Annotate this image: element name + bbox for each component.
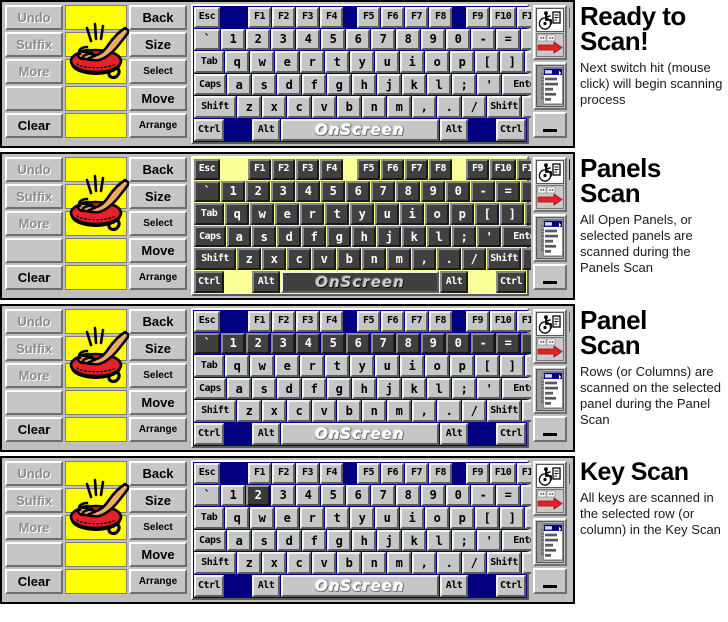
key-[interactable]: , (412, 400, 436, 422)
key-l[interactable]: l (427, 74, 451, 96)
key-x[interactable]: x (262, 400, 286, 422)
key-e[interactable]: e (275, 355, 299, 377)
key-0[interactable]: 0 (446, 29, 470, 51)
button-select[interactable]: Select (129, 363, 187, 388)
key-v[interactable]: v (312, 400, 336, 422)
key-6[interactable]: 6 (346, 485, 370, 507)
key-9[interactable]: 9 (421, 29, 445, 51)
key-Alt[interactable]: Alt (252, 575, 280, 597)
key-1[interactable]: 1 (221, 29, 245, 51)
key-c[interactable]: c (287, 248, 311, 270)
key-s[interactable]: s (252, 378, 276, 400)
key-k[interactable]: k (402, 226, 426, 248)
button-move[interactable]: Move (129, 238, 187, 263)
button-more[interactable]: More (5, 211, 63, 236)
key-Alt[interactable]: Alt (440, 119, 468, 141)
key-Caps[interactable]: Caps (194, 226, 226, 248)
key-o[interactable]: o (425, 51, 449, 73)
button-size[interactable]: Size (129, 336, 187, 361)
key-j[interactable]: j (377, 530, 401, 552)
key-[interactable]: - (471, 29, 495, 51)
key-z[interactable]: z (237, 96, 261, 118)
key-F2[interactable]: F2 (272, 311, 295, 332)
key-4[interactable]: 4 (296, 333, 320, 355)
key-2[interactable]: 2 (246, 485, 270, 507)
key-F4[interactable]: F4 (320, 7, 343, 28)
key-F1[interactable]: F1 (248, 159, 271, 180)
key-r[interactable]: r (300, 507, 324, 529)
key-Shift[interactable]: Shift (194, 552, 236, 574)
key-i[interactable]: i (400, 51, 424, 73)
button-undo[interactable]: Undo (5, 5, 63, 30)
button-undo[interactable]: Undo (5, 157, 63, 182)
key-l[interactable]: l (427, 530, 451, 552)
key-F5[interactable]: F5 (357, 7, 380, 28)
key-t[interactable]: t (325, 355, 349, 377)
red-arrow-icon[interactable] (536, 337, 564, 361)
key-[interactable]: = (496, 181, 520, 203)
key-2[interactable]: 2 (246, 29, 270, 51)
key-[interactable]: . (437, 400, 461, 422)
key-5[interactable]: 5 (321, 181, 345, 203)
red-arrow-icon[interactable] (536, 185, 564, 209)
key-[interactable]: - (471, 333, 495, 355)
button-undo[interactable]: Undo (5, 461, 63, 486)
key-Tab[interactable]: Tab (194, 507, 224, 529)
key-k[interactable]: k (402, 378, 426, 400)
key-8[interactable]: 8 (396, 485, 420, 507)
key-1[interactable]: 1 (221, 485, 245, 507)
onscreen-keyboard[interactable]: EscF1F2F3F4F5F6F7F8F9F10F11F12`123456789… (191, 156, 529, 296)
key-Ctrl[interactable]: Ctrl (194, 119, 224, 141)
key-a[interactable]: a (227, 226, 251, 248)
key-F2[interactable]: F2 (272, 159, 295, 180)
key-y[interactable]: y (350, 203, 374, 225)
key-Ctrl[interactable]: Ctrl (496, 575, 526, 597)
key-h[interactable]: h (352, 378, 376, 400)
button-suffix[interactable]: Suffix (5, 184, 63, 209)
key-[interactable]: ; (452, 530, 476, 552)
key-y[interactable]: y (350, 355, 374, 377)
key-d[interactable]: d (277, 378, 301, 400)
key-x[interactable]: x (262, 96, 286, 118)
key-F3[interactable]: F3 (296, 159, 319, 180)
key-7[interactable]: 7 (371, 333, 395, 355)
menu-list-icon[interactable]: MENU (536, 521, 564, 563)
key-s[interactable]: s (252, 226, 276, 248)
key-Alt[interactable]: Alt (252, 119, 280, 141)
key-[interactable]: / (462, 248, 486, 270)
key-x[interactable]: x (262, 248, 286, 270)
key-Tab[interactable]: Tab (194, 51, 224, 73)
key-[interactable]: ] (500, 203, 524, 225)
onscreen-keyboard[interactable]: EscF1F2F3F4F5F6F7F8F9F10F11F12`123456789… (191, 4, 529, 144)
button-move[interactable]: Move (129, 390, 187, 415)
key-p[interactable]: p (450, 51, 474, 73)
button-back[interactable]: Back (129, 157, 187, 182)
key-[interactable]: ; (452, 378, 476, 400)
key-F7[interactable]: F7 (405, 311, 428, 332)
key-w[interactable]: w (250, 203, 274, 225)
key-o[interactable]: o (425, 203, 449, 225)
key-[interactable]: ] (500, 51, 524, 73)
key-F8[interactable]: F8 (429, 159, 452, 180)
key-b[interactable]: b (337, 552, 361, 574)
key-y[interactable]: y (350, 51, 374, 73)
key-5[interactable]: 5 (321, 333, 345, 355)
red-arrow-icon[interactable] (536, 489, 564, 513)
button-suffix[interactable]: Suffix (5, 488, 63, 513)
key-g[interactable]: g (327, 378, 351, 400)
key-[interactable]: ; (452, 74, 476, 96)
key-d[interactable]: d (277, 530, 301, 552)
key-a[interactable]: a (227, 530, 251, 552)
key-p[interactable]: p (450, 355, 474, 377)
key-m[interactable]: m (387, 248, 411, 270)
key-Alt[interactable]: Alt (252, 271, 280, 293)
button-move[interactable]: Move (129, 86, 187, 111)
button-more[interactable]: More (5, 59, 63, 84)
key-[interactable]: / (462, 552, 486, 574)
key-F2[interactable]: F2 (272, 7, 295, 28)
key-n[interactable]: n (362, 96, 386, 118)
key-q[interactable]: q (225, 51, 249, 73)
key-Alt[interactable]: Alt (252, 423, 280, 445)
key-n[interactable]: n (362, 400, 386, 422)
key-Caps[interactable]: Caps (194, 378, 226, 400)
key-[interactable]: ` (194, 29, 220, 51)
button-arrange[interactable]: Arrange (129, 113, 187, 138)
key-f[interactable]: f (302, 74, 326, 96)
key-Ctrl[interactable]: Ctrl (194, 271, 224, 293)
key-v[interactable]: v (312, 552, 336, 574)
key-5[interactable]: 5 (321, 485, 345, 507)
key-F8[interactable]: F8 (429, 7, 452, 28)
key-space[interactable]: OnScreen (281, 119, 439, 141)
key-Shift[interactable]: Shift (487, 400, 521, 422)
button-select[interactable]: Select (129, 59, 187, 84)
key-Alt[interactable]: Alt (440, 423, 468, 445)
key-Caps[interactable]: Caps (194, 74, 226, 96)
button-move[interactable]: Move (129, 542, 187, 567)
key-F10[interactable]: F10 (490, 7, 516, 28)
red-arrow-icon[interactable] (536, 33, 564, 57)
key-g[interactable]: g (327, 74, 351, 96)
key-g[interactable]: g (327, 226, 351, 248)
onscreen-keyboard[interactable]: EscF1F2F3F4F5F6F7F8F9F10F11F12`123456789… (191, 308, 529, 448)
key-8[interactable]: 8 (396, 29, 420, 51)
key-Shift[interactable]: Shift (487, 552, 521, 574)
accessibility-wheelchair-icon[interactable] (536, 160, 564, 184)
key-[interactable]: = (496, 485, 520, 507)
key-Ctrl[interactable]: Ctrl (496, 271, 526, 293)
key-0[interactable]: 0 (446, 333, 470, 355)
key-c[interactable]: c (287, 96, 311, 118)
key-6[interactable]: 6 (346, 29, 370, 51)
key-[interactable]: ' (477, 378, 501, 400)
key-4[interactable]: 4 (296, 485, 320, 507)
key-F5[interactable]: F5 (357, 463, 380, 484)
key-Esc[interactable]: Esc (194, 463, 220, 484)
key-Shift[interactable]: Shift (194, 400, 236, 422)
key-[interactable]: , (412, 248, 436, 270)
key-[interactable]: - (471, 181, 495, 203)
button-select[interactable]: Select (129, 515, 187, 540)
key-b[interactable]: b (337, 248, 361, 270)
key-w[interactable]: w (250, 507, 274, 529)
key-space[interactable]: OnScreen (281, 271, 439, 293)
key-F7[interactable]: F7 (405, 159, 428, 180)
button-clear[interactable]: Clear (5, 113, 63, 138)
button-back[interactable]: Back (129, 5, 187, 30)
key-F2[interactable]: F2 (272, 463, 295, 484)
minimize-button[interactable] (533, 568, 567, 594)
key-[interactable]: [ (475, 51, 499, 73)
key-space[interactable]: OnScreen (281, 575, 439, 597)
key-8[interactable]: 8 (396, 333, 420, 355)
key-Esc[interactable]: Esc (194, 7, 220, 28)
key-e[interactable]: e (275, 203, 299, 225)
key-3[interactable]: 3 (271, 485, 295, 507)
key-8[interactable]: 8 (396, 181, 420, 203)
key-g[interactable]: g (327, 530, 351, 552)
key-d[interactable]: d (277, 226, 301, 248)
menu-list-icon[interactable]: MENU (536, 217, 564, 259)
key-[interactable]: ` (194, 181, 220, 203)
key-[interactable]: . (437, 96, 461, 118)
key-o[interactable]: o (425, 355, 449, 377)
key-p[interactable]: p (450, 203, 474, 225)
key-[interactable]: / (462, 400, 486, 422)
key-w[interactable]: w (250, 51, 274, 73)
key-F6[interactable]: F6 (381, 7, 404, 28)
key-[interactable]: ' (477, 530, 501, 552)
key-F8[interactable]: F8 (429, 463, 452, 484)
key-a[interactable]: a (227, 378, 251, 400)
accessibility-wheelchair-icon[interactable] (536, 8, 564, 32)
key-[interactable]: . (437, 248, 461, 270)
key-Alt[interactable]: Alt (440, 575, 468, 597)
key-q[interactable]: q (225, 203, 249, 225)
minimize-button[interactable] (533, 112, 567, 138)
key-7[interactable]: 7 (371, 485, 395, 507)
key-[interactable]: ] (500, 507, 524, 529)
key-e[interactable]: e (275, 507, 299, 529)
button-back[interactable]: Back (129, 461, 187, 486)
key-Alt[interactable]: Alt (440, 271, 468, 293)
key-j[interactable]: j (377, 378, 401, 400)
button-select[interactable]: Select (129, 211, 187, 236)
key-Caps[interactable]: Caps (194, 530, 226, 552)
key-0[interactable]: 0 (446, 181, 470, 203)
button-arrange[interactable]: Arrange (129, 569, 187, 594)
key-[interactable]: ' (477, 74, 501, 96)
button-arrange[interactable]: Arrange (129, 265, 187, 290)
key-F9[interactable]: F9 (466, 7, 489, 28)
key-m[interactable]: m (387, 552, 411, 574)
key-b[interactable]: b (337, 400, 361, 422)
key-F1[interactable]: F1 (248, 7, 271, 28)
key-F5[interactable]: F5 (357, 311, 380, 332)
key-Esc[interactable]: Esc (194, 159, 220, 180)
key-t[interactable]: t (325, 203, 349, 225)
key-Ctrl[interactable]: Ctrl (496, 119, 526, 141)
key-h[interactable]: h (352, 530, 376, 552)
key-F8[interactable]: F8 (429, 311, 452, 332)
key-3[interactable]: 3 (271, 181, 295, 203)
key-F1[interactable]: F1 (248, 311, 271, 332)
key-b[interactable]: b (337, 96, 361, 118)
button-clear[interactable]: Clear (5, 417, 63, 442)
key-h[interactable]: h (352, 74, 376, 96)
key-2[interactable]: 2 (246, 333, 270, 355)
key-l[interactable]: l (427, 378, 451, 400)
key-3[interactable]: 3 (271, 29, 295, 51)
key-z[interactable]: z (237, 552, 261, 574)
key-Shift[interactable]: Shift (487, 96, 521, 118)
key-i[interactable]: i (400, 203, 424, 225)
button-arrange[interactable]: Arrange (129, 417, 187, 442)
key-f[interactable]: f (302, 226, 326, 248)
key-Ctrl[interactable]: Ctrl (496, 423, 526, 445)
button-size[interactable]: Size (129, 184, 187, 209)
key-Ctrl[interactable]: Ctrl (194, 423, 224, 445)
key-Tab[interactable]: Tab (194, 203, 224, 225)
key-9[interactable]: 9 (421, 181, 445, 203)
key-F3[interactable]: F3 (296, 7, 319, 28)
key-c[interactable]: c (287, 552, 311, 574)
key-r[interactable]: r (300, 51, 324, 73)
key-r[interactable]: r (300, 355, 324, 377)
key-F9[interactable]: F9 (466, 463, 489, 484)
key-space[interactable]: OnScreen (281, 423, 439, 445)
key-[interactable]: ` (194, 333, 220, 355)
key-7[interactable]: 7 (371, 181, 395, 203)
key-F4[interactable]: F4 (320, 311, 343, 332)
key-F10[interactable]: F10 (490, 159, 516, 180)
key-[interactable]: ] (500, 355, 524, 377)
button-clear[interactable]: Clear (5, 569, 63, 594)
key-m[interactable]: m (387, 400, 411, 422)
key-t[interactable]: t (325, 507, 349, 529)
key-F9[interactable]: F9 (466, 311, 489, 332)
key-4[interactable]: 4 (296, 181, 320, 203)
button-back[interactable]: Back (129, 309, 187, 334)
button-more[interactable]: More (5, 515, 63, 540)
key-F9[interactable]: F9 (466, 159, 489, 180)
key-[interactable]: [ (475, 355, 499, 377)
key-6[interactable]: 6 (346, 333, 370, 355)
key-2[interactable]: 2 (246, 181, 270, 203)
key-t[interactable]: t (325, 51, 349, 73)
key-[interactable]: , (412, 552, 436, 574)
key-x[interactable]: x (262, 552, 286, 574)
key-m[interactable]: m (387, 96, 411, 118)
key-k[interactable]: k (402, 530, 426, 552)
key-u[interactable]: u (375, 507, 399, 529)
key-Tab[interactable]: Tab (194, 355, 224, 377)
key-F3[interactable]: F3 (296, 311, 319, 332)
key-Shift[interactable]: Shift (194, 96, 236, 118)
key-F5[interactable]: F5 (357, 159, 380, 180)
key-r[interactable]: r (300, 203, 324, 225)
key-k[interactable]: k (402, 74, 426, 96)
key-f[interactable]: f (302, 378, 326, 400)
key-u[interactable]: u (375, 203, 399, 225)
key-w[interactable]: w (250, 355, 274, 377)
key-9[interactable]: 9 (421, 485, 445, 507)
key-F6[interactable]: F6 (381, 159, 404, 180)
minimize-button[interactable] (533, 264, 567, 290)
button-clear[interactable]: Clear (5, 265, 63, 290)
key-[interactable]: . (437, 552, 461, 574)
button-suffix[interactable]: Suffix (5, 32, 63, 57)
button-more[interactable]: More (5, 363, 63, 388)
key-u[interactable]: u (375, 355, 399, 377)
onscreen-keyboard[interactable]: EscF1F2F3F4F5F6F7F8F9F10F11F12`123456789… (191, 460, 529, 600)
key-[interactable]: / (462, 96, 486, 118)
key-F10[interactable]: F10 (490, 463, 516, 484)
key-s[interactable]: s (252, 530, 276, 552)
key-[interactable]: [ (475, 203, 499, 225)
key-1[interactable]: 1 (221, 333, 245, 355)
key-y[interactable]: y (350, 507, 374, 529)
accessibility-wheelchair-icon[interactable] (536, 464, 564, 488)
key-Ctrl[interactable]: Ctrl (194, 575, 224, 597)
key-1[interactable]: 1 (221, 181, 245, 203)
key-f[interactable]: f (302, 530, 326, 552)
key-F4[interactable]: F4 (320, 159, 343, 180)
button-size[interactable]: Size (129, 32, 187, 57)
key-a[interactable]: a (227, 74, 251, 96)
key-q[interactable]: q (225, 507, 249, 529)
key-s[interactable]: s (252, 74, 276, 96)
menu-list-icon[interactable]: MENU (536, 65, 564, 107)
key-[interactable]: ' (477, 226, 501, 248)
key-n[interactable]: n (362, 248, 386, 270)
key-F10[interactable]: F10 (490, 311, 516, 332)
button-size[interactable]: Size (129, 488, 187, 513)
key-4[interactable]: 4 (296, 29, 320, 51)
key-[interactable]: , (412, 96, 436, 118)
key-9[interactable]: 9 (421, 333, 445, 355)
menu-list-icon[interactable]: MENU (536, 369, 564, 411)
key-j[interactable]: j (377, 226, 401, 248)
key-[interactable]: - (471, 485, 495, 507)
key-n[interactable]: n (362, 552, 386, 574)
key-q[interactable]: q (225, 355, 249, 377)
key-c[interactable]: c (287, 400, 311, 422)
key-6[interactable]: 6 (346, 181, 370, 203)
key-l[interactable]: l (427, 226, 451, 248)
key-e[interactable]: e (275, 51, 299, 73)
key-d[interactable]: d (277, 74, 301, 96)
key-[interactable]: = (496, 333, 520, 355)
key-Shift[interactable]: Shift (194, 248, 236, 270)
key-[interactable]: ; (452, 226, 476, 248)
key-j[interactable]: j (377, 74, 401, 96)
key-i[interactable]: i (400, 507, 424, 529)
key-F1[interactable]: F1 (248, 463, 271, 484)
accessibility-wheelchair-icon[interactable] (536, 312, 564, 336)
key-[interactable]: [ (475, 507, 499, 529)
key-7[interactable]: 7 (371, 29, 395, 51)
key-Esc[interactable]: Esc (194, 311, 220, 332)
key-z[interactable]: z (237, 248, 261, 270)
key-h[interactable]: h (352, 226, 376, 248)
key-[interactable]: = (496, 29, 520, 51)
key-5[interactable]: 5 (321, 29, 345, 51)
